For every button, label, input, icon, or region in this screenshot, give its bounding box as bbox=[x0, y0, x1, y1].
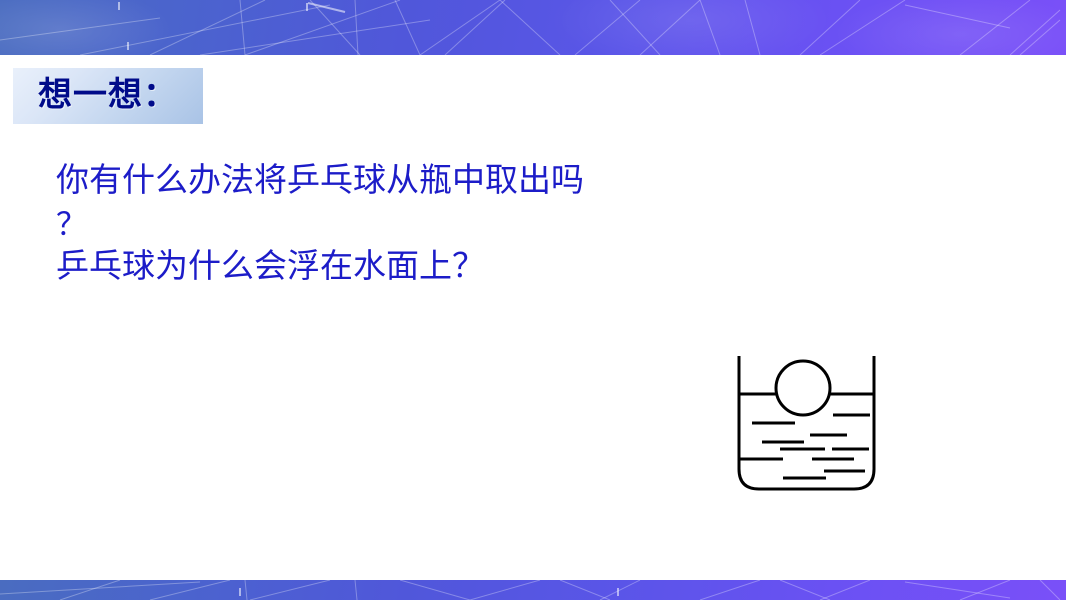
top-decorative-banner bbox=[0, 0, 1066, 55]
presentation-slide: 想一想： 你有什么办法将乒乓球从瓶中取出吗 ？ 乒乓球为什么会浮在水面上？ bbox=[0, 0, 1066, 600]
section-title-plate: 想一想： bbox=[13, 68, 203, 124]
beaker-with-floating-ball-diagram bbox=[725, 345, 895, 505]
section-title-label: 想一想： bbox=[38, 79, 178, 113]
beaker-illustration-svg bbox=[725, 345, 895, 505]
question-line-3: 乒乓球为什么会浮在水面上？ bbox=[56, 246, 896, 289]
question-line-2: ？ bbox=[56, 203, 896, 246]
top-banner-line-pattern bbox=[0, 0, 1066, 55]
question-line-1: 你有什么办法将乒乓球从瓶中取出吗 bbox=[56, 160, 896, 203]
bottom-banner-line-pattern bbox=[0, 580, 1066, 600]
question-text-block: 你有什么办法将乒乓球从瓶中取出吗 ？ 乒乓球为什么会浮在水面上？ bbox=[56, 160, 896, 289]
bottom-decorative-banner bbox=[0, 580, 1066, 600]
water-dash-group bbox=[740, 415, 870, 478]
ping-pong-ball-icon bbox=[776, 361, 830, 415]
